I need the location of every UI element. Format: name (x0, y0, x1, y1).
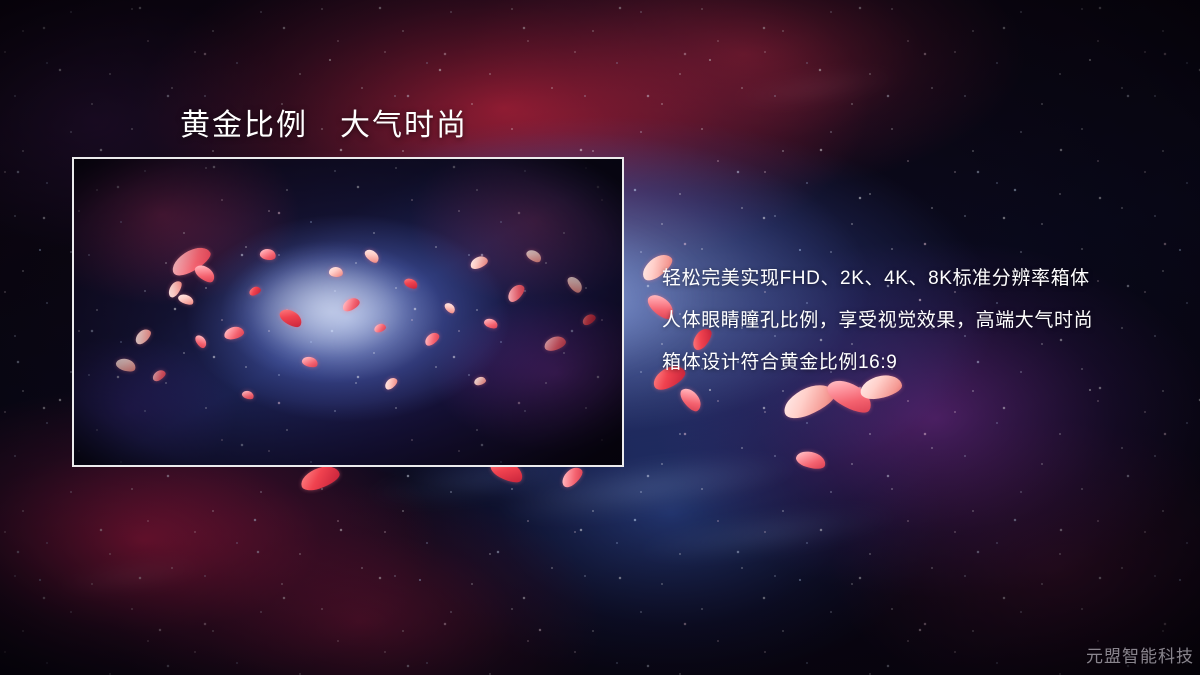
description-line-3: 箱体设计符合黄金比例16:9 (662, 342, 1162, 384)
description-line-2: 人体眼睛瞳孔比例，享受视觉效果，高端大气时尚 (662, 300, 1162, 342)
galaxy-photo-inner (74, 159, 622, 465)
frame-vignette (74, 159, 622, 465)
galaxy-photo-frame (72, 157, 624, 467)
slide-canvas: 黄金比例 大气时尚 轻松完美实现FHD、2K、4K、8K标准分辨率箱体 人体眼睛… (0, 0, 1200, 675)
feature-description: 轻松完美实现FHD、2K、4K、8K标准分辨率箱体 人体眼睛瞳孔比例，享受视觉效… (662, 258, 1162, 384)
brand-watermark: 元盟智能科技 (1086, 642, 1194, 667)
description-line-1: 轻松完美实现FHD、2K、4K、8K标准分辨率箱体 (662, 258, 1162, 300)
page-title: 黄金比例 大气时尚 (180, 100, 468, 144)
